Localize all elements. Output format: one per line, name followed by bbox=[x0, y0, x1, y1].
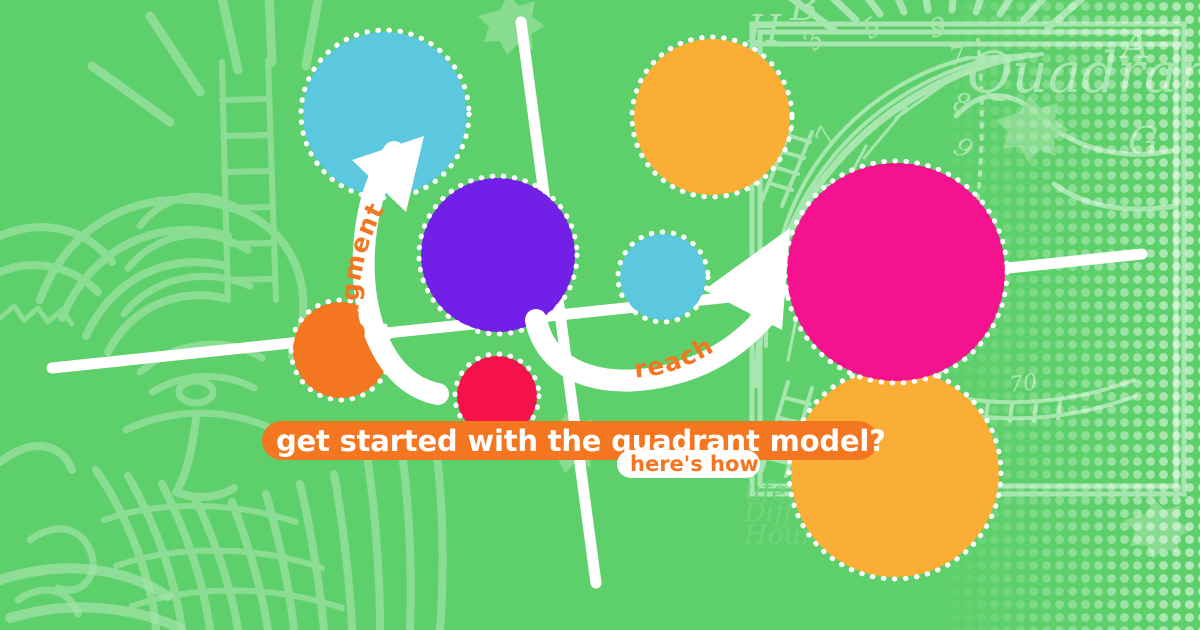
svg-text:H: H bbox=[747, 7, 782, 51]
poster-artwork: .dotring { fill:none; stroke:#ffffff; st… bbox=[0, 0, 1200, 630]
headline-banner[interactable]: get started with the quadrant model? bbox=[262, 421, 886, 460]
subline-text: here's how bbox=[630, 452, 759, 476]
promo-graphic-canvas: .dotring { fill:none; stroke:#ffffff; st… bbox=[0, 0, 1200, 630]
svg-text:B: B bbox=[789, 0, 818, 29]
subline-badge[interactable]: here's how bbox=[617, 450, 760, 478]
headline-text: get started with the quadrant model? bbox=[276, 424, 886, 458]
